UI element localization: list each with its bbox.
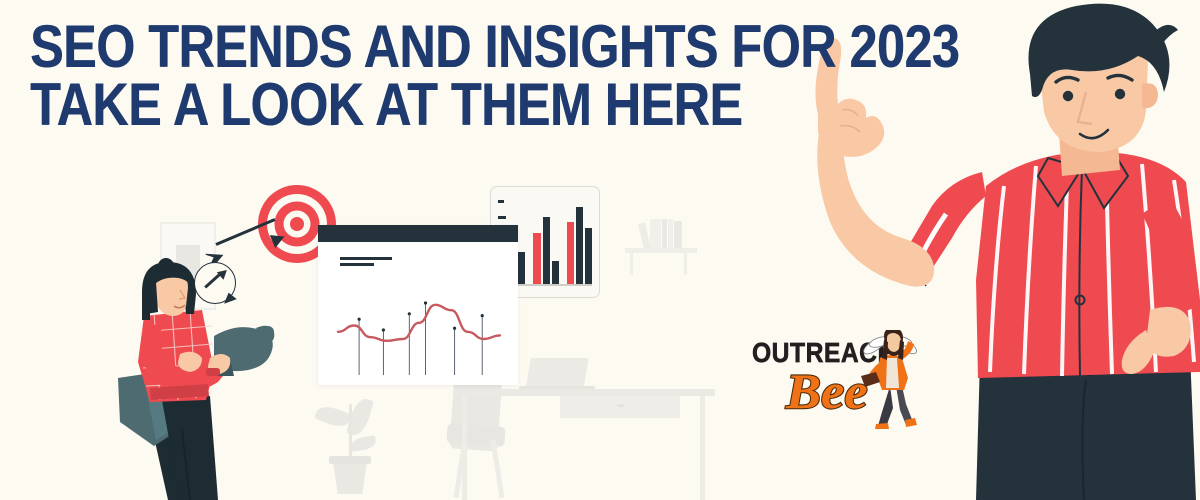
- desk-leg: [700, 396, 705, 500]
- plant-leaf-icon: [350, 435, 377, 451]
- bar-g2-a: [533, 233, 540, 284]
- mascot-top: [886, 358, 899, 388]
- pin-dot: [424, 301, 427, 304]
- plant-pot: [333, 462, 367, 494]
- headline-line-2: TAKE A LOOK AT THEM HERE: [30, 73, 969, 138]
- pin-dot: [453, 327, 456, 330]
- outreach-bee-logo[interactable]: OUTREACH Bee Bee: [752, 330, 922, 435]
- bar-g3-c: [585, 228, 592, 284]
- bookshelf-leg: [684, 253, 687, 275]
- bee-girl-mascot-icon: [860, 330, 922, 430]
- man-ear: [1142, 83, 1158, 108]
- book-icon: [668, 219, 673, 249]
- plant-leaf-icon: [314, 402, 352, 430]
- book-icon: [638, 223, 651, 250]
- whiteboard-line-chart: [318, 225, 518, 385]
- plant-pot-rim: [329, 456, 371, 464]
- mascot-shoe-back: [875, 423, 889, 429]
- man-eye-right: [1115, 89, 1125, 99]
- pin-dot: [481, 314, 484, 317]
- bar-g2-c: [552, 261, 559, 284]
- book-icon: [662, 219, 667, 249]
- pin-dot: [358, 318, 361, 321]
- bar-g3-a: [567, 222, 574, 284]
- desk-drawer-knob: [617, 404, 624, 407]
- logo-word-bee: Bee: [786, 362, 868, 420]
- book-icon: [674, 221, 682, 249]
- page-title: SEO TRENDS AND INSIGHTS FOR 2023 TAKE A …: [30, 18, 1040, 134]
- seo-banner: OUTREACH Bee Bee: [0, 0, 1200, 500]
- bar-g3-b: [576, 207, 583, 284]
- target-bullseye: [290, 217, 304, 231]
- headline-line-1: SEO TRENDS AND INSIGHTS FOR 2023: [30, 15, 969, 80]
- desk-surface: [455, 389, 715, 396]
- bar-g2-b: [543, 217, 550, 284]
- office-chair-seat: [446, 423, 505, 447]
- pin-dot: [382, 328, 385, 331]
- bar-g1-c: [518, 252, 525, 284]
- bookshelf-leg: [630, 253, 633, 275]
- pin-dot: [408, 312, 411, 315]
- line-chart-curve: [338, 305, 500, 341]
- office-chair-leg: [490, 440, 504, 498]
- desk-leg: [462, 396, 467, 500]
- held-object-knob: [262, 326, 274, 338]
- woman-cuff: [206, 368, 220, 376]
- desk-drawer: [560, 396, 680, 418]
- man-eye-left: [1063, 91, 1073, 101]
- book-icon: [650, 219, 661, 249]
- woman-hair-side: [144, 282, 158, 314]
- mascot-leg-back: [878, 386, 893, 427]
- plant-stem: [349, 404, 352, 460]
